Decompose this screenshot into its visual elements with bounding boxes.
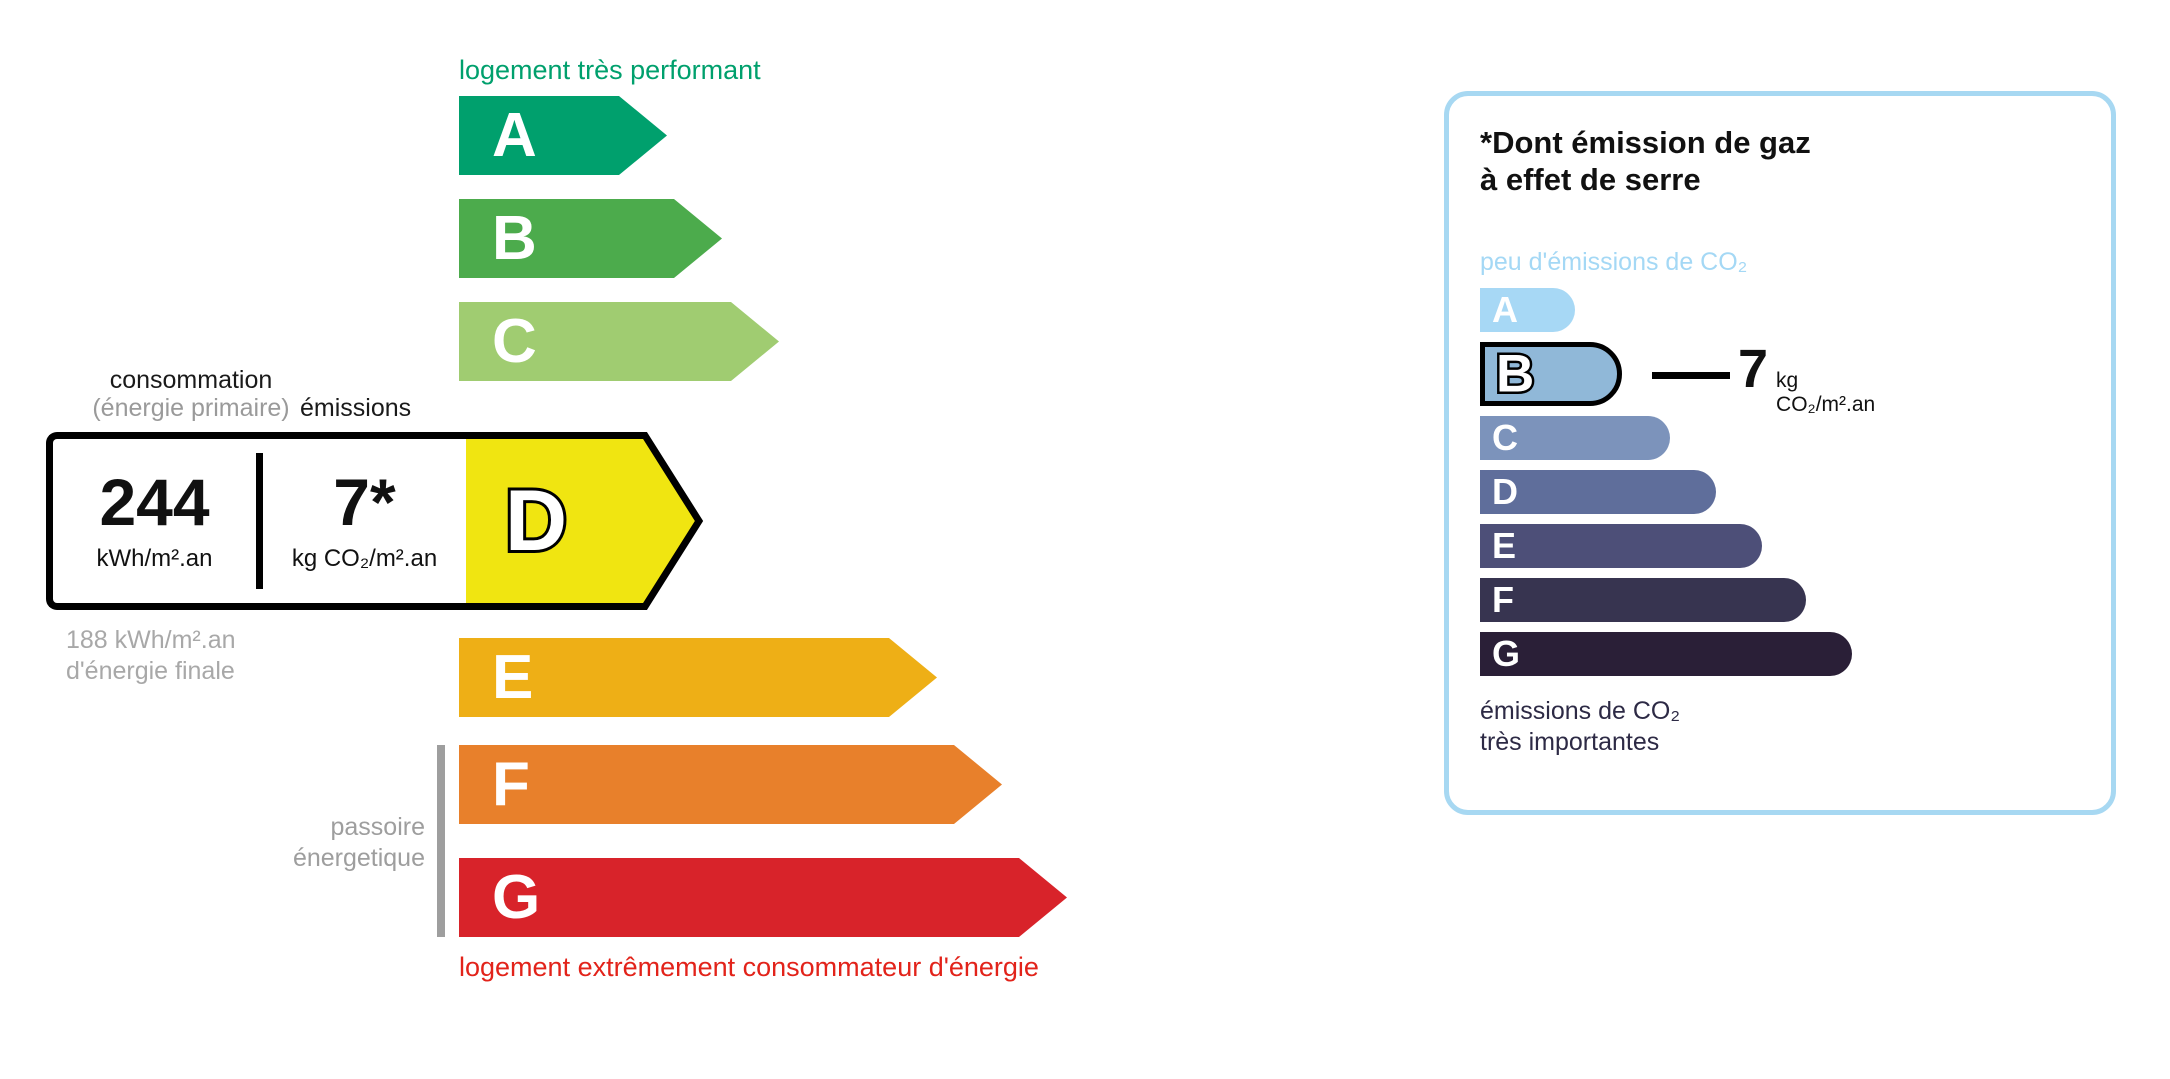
co2-value-annotation: 7 kg CO₂/m².an bbox=[1738, 342, 1875, 417]
emissions-value: 7* bbox=[333, 469, 395, 535]
co2-bottom-caption-line2: très importantes bbox=[1480, 727, 1680, 758]
co2-emissions-panel: *Dont émission de gaz à effet de serre p… bbox=[1444, 91, 2116, 815]
co2-bottom-caption-line1: émissions de CO₂ bbox=[1480, 696, 1680, 727]
co2-bar-b-selected: B 7 kg CO₂/m².an bbox=[1480, 342, 1622, 406]
final-energy-note: 188 kWh/m².an d'énergie finale bbox=[66, 625, 236, 686]
energy-bar-g: G bbox=[459, 858, 1019, 937]
co2-value-unit: kg CO₂/m².an bbox=[1776, 369, 1875, 417]
dpe-label: logement très performant A B C bbox=[0, 0, 2170, 1079]
consumption-header-line1: consommation bbox=[66, 366, 316, 394]
energy-bar-f: F bbox=[459, 745, 954, 824]
energy-bar-d-selected: D bbox=[459, 432, 809, 610]
energy-performance-scale: logement très performant A B C bbox=[0, 0, 1400, 1079]
co2-connector-line bbox=[1652, 372, 1730, 379]
value-box-divider bbox=[256, 453, 263, 589]
passoire-label: passoire énergetique bbox=[250, 812, 425, 873]
co2-bar-e: E bbox=[1480, 524, 1762, 568]
final-energy-line1: 188 kWh/m².an bbox=[66, 625, 236, 656]
consumption-header-line2: (énergie primaire) bbox=[66, 394, 316, 422]
emissions-header: émissions bbox=[300, 394, 411, 423]
co2-bar-a-letter: A bbox=[1492, 292, 1518, 328]
co2-bar-d-letter: D bbox=[1492, 474, 1518, 510]
co2-bar-g: G bbox=[1480, 632, 1852, 676]
emissions-unit: kg CO₂/m².an bbox=[292, 545, 437, 573]
consumption-header: consommation (énergie primaire) bbox=[66, 366, 316, 422]
co2-bar-b-letter: B bbox=[1496, 348, 1534, 401]
co2-panel-title-line1: *Dont émission de gaz bbox=[1480, 124, 1811, 161]
energy-bar-c: C bbox=[459, 302, 731, 381]
co2-bar-f: F bbox=[1480, 578, 1806, 622]
co2-value-number: 7 bbox=[1738, 342, 1768, 396]
primary-energy-value: 244 bbox=[99, 469, 209, 535]
co2-bar-f-letter: F bbox=[1492, 582, 1514, 618]
co2-bar-d: D bbox=[1480, 470, 1716, 514]
passoire-label-line2: énergetique bbox=[250, 843, 425, 874]
primary-energy-cell: 244 kWh/m².an bbox=[53, 439, 256, 603]
passoire-marker-bar bbox=[437, 745, 445, 937]
primary-energy-unit: kWh/m².an bbox=[96, 545, 212, 573]
co2-top-caption: peu d'émissions de CO₂ bbox=[1480, 248, 1747, 277]
energy-bottom-caption: logement extrêmement consommateur d'éner… bbox=[459, 952, 1039, 983]
value-box: 244 kWh/m².an 7* kg CO₂/m².an bbox=[46, 432, 466, 610]
final-energy-line2: d'énergie finale bbox=[66, 656, 236, 687]
co2-bar-a: A bbox=[1480, 288, 1575, 332]
co2-bar-c: C bbox=[1480, 416, 1670, 460]
energy-top-caption: logement très performant bbox=[459, 55, 761, 86]
energy-bar-b: B bbox=[459, 199, 674, 278]
co2-bar-g-letter: G bbox=[1492, 636, 1520, 672]
co2-bar-e-letter: E bbox=[1492, 528, 1516, 564]
co2-bottom-caption: émissions de CO₂ très importantes bbox=[1480, 696, 1680, 757]
co2-panel-title: *Dont émission de gaz à effet de serre bbox=[1480, 124, 1811, 198]
energy-bar-e: E bbox=[459, 638, 889, 717]
passoire-label-line1: passoire bbox=[250, 812, 425, 843]
co2-bar-c-letter: C bbox=[1492, 420, 1518, 456]
emissions-cell: 7* kg CO₂/m².an bbox=[263, 439, 466, 603]
energy-bar-a: A bbox=[459, 96, 619, 175]
co2-panel-title-line2: à effet de serre bbox=[1480, 161, 1811, 198]
